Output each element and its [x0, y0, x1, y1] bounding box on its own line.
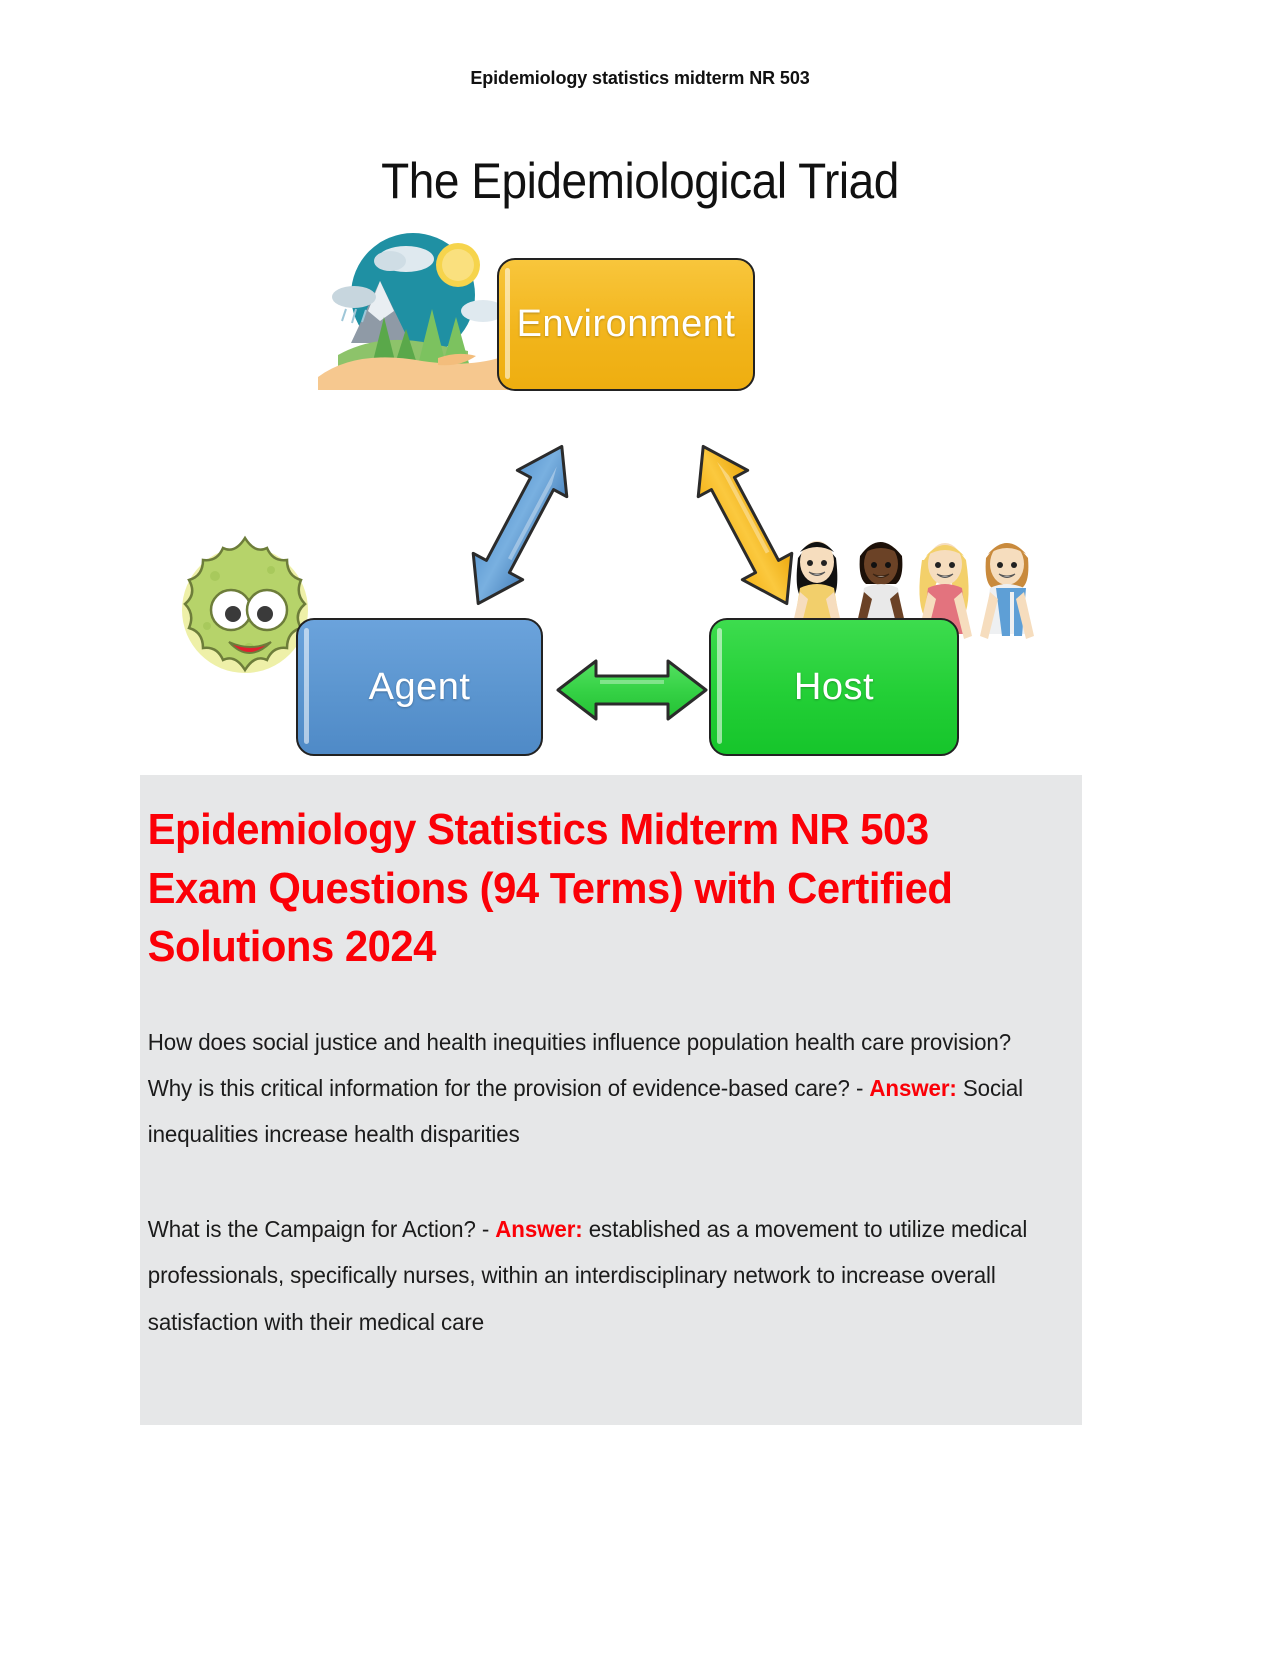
diagram-title: The Epidemiological Triad — [51, 152, 1229, 210]
node-agent[interactable]: Agent — [296, 618, 543, 756]
node-environment-label: Environment — [517, 303, 736, 346]
answer-label: Answer: — [869, 1075, 956, 1101]
document-content-panel: Epidemiology Statistics Midterm NR 503 E… — [140, 775, 1082, 1425]
qa-question: What is the Campaign for Action? - — [148, 1216, 496, 1242]
node-environment[interactable]: Environment — [497, 258, 755, 391]
qa-item: How does social justice and health inequ… — [140, 1019, 1054, 1158]
arrow-environment-host-icon — [680, 430, 810, 620]
answer-label: Answer: — [495, 1216, 582, 1242]
arrow-agent-host-icon — [552, 645, 712, 735]
node-agent-label: Agent — [369, 666, 471, 709]
epidemiological-triad-diagram: The Epidemiological Triad — [0, 140, 1280, 775]
running-header: Epidemiology statistics midterm NR 503 — [0, 68, 1280, 89]
arrow-environment-agent-icon — [455, 430, 585, 620]
qa-item: What is the Campaign for Action? - Answe… — [140, 1206, 1054, 1345]
node-host[interactable]: Host — [709, 618, 959, 756]
hand-holding-nature-icon — [318, 225, 508, 390]
node-host-label: Host — [794, 666, 874, 709]
document-title: Epidemiology Statistics Midterm NR 503 E… — [140, 801, 1035, 977]
